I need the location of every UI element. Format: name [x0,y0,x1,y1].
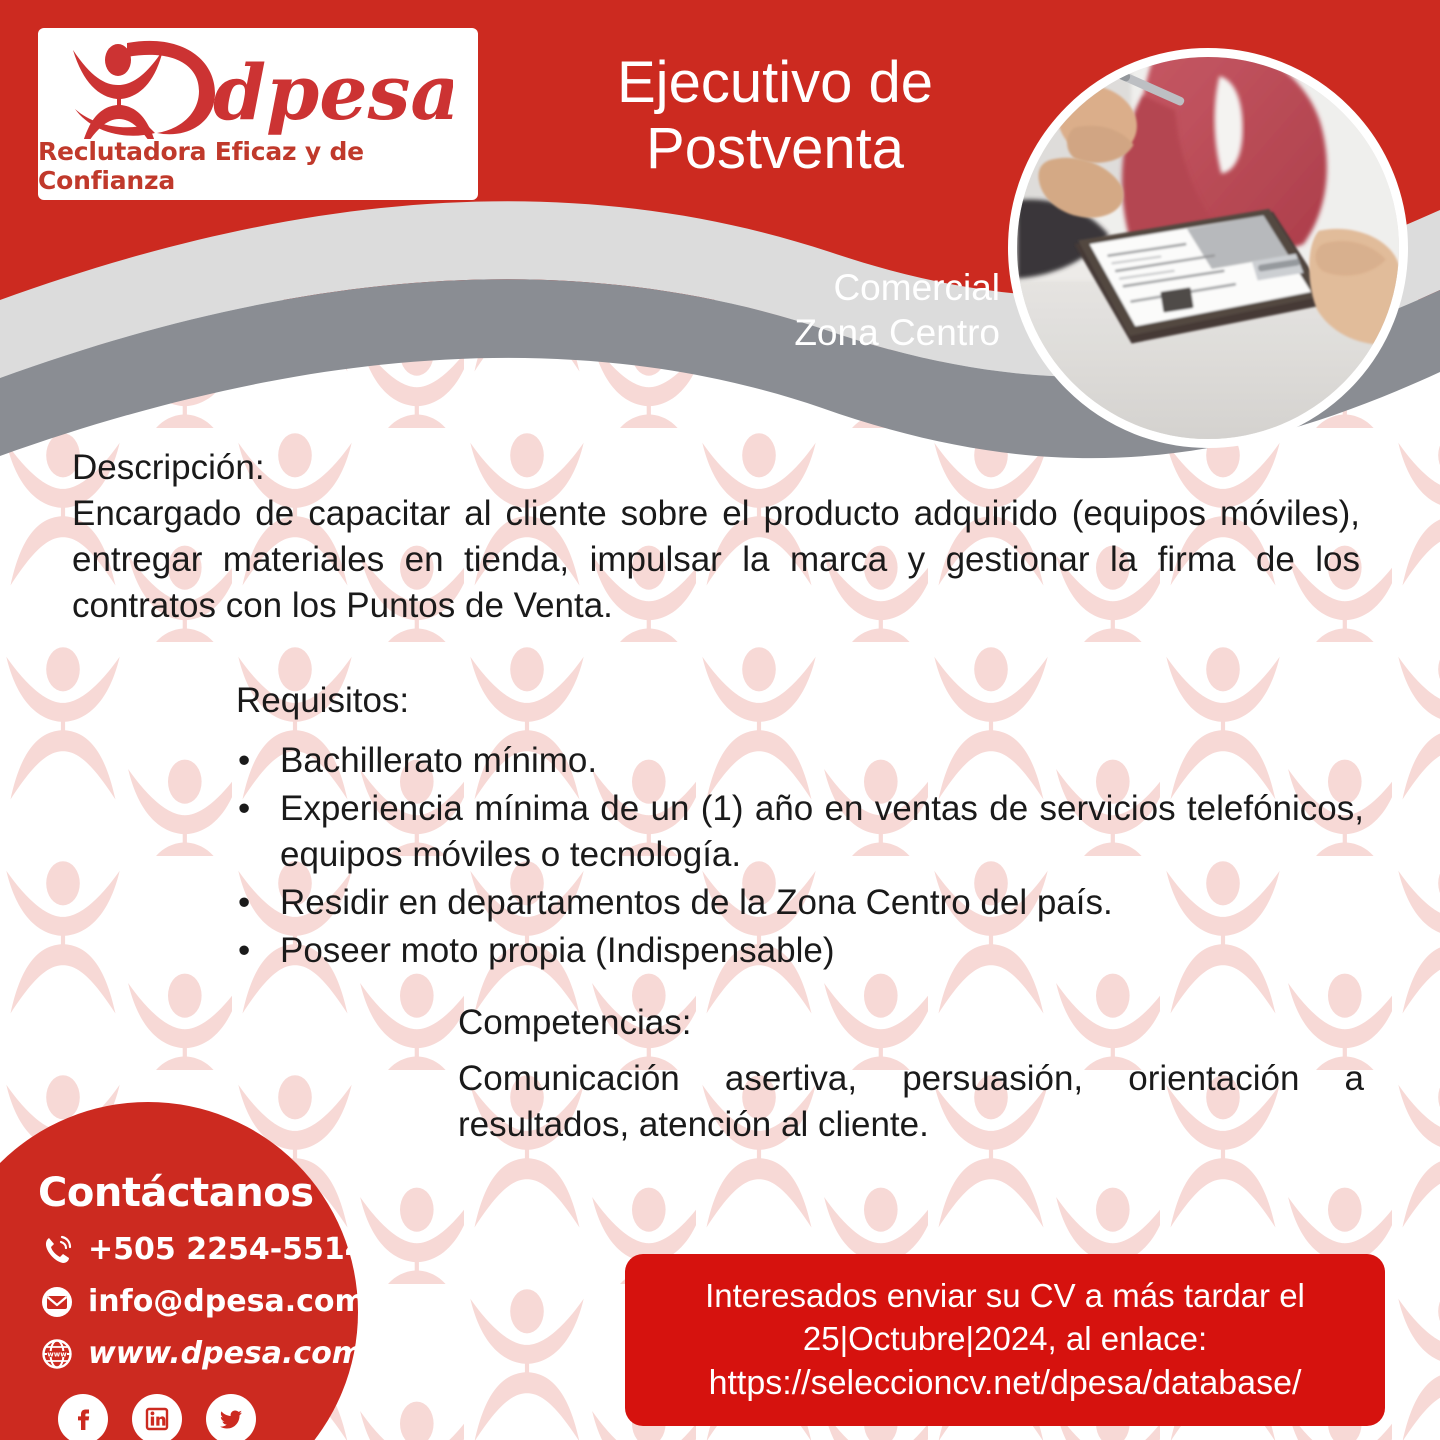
job-subtitle: Comercial Zona Centro [600,265,1000,355]
logo-tagline: Reclutadora Eficaz y de Confianza [38,137,478,195]
list-item: • Poseer moto propia (Indispensable) [236,928,1364,974]
contact-heading: Contáctanos [38,1170,314,1216]
list-item-text: Poseer moto propia (Indispensable) [280,931,834,970]
list-item-text: Residir en departamentos de la Zona Cent… [280,883,1113,922]
competencies-text: Comunicación asertiva, persuasión, orien… [458,1056,1364,1150]
twitter-icon[interactable] [206,1394,256,1440]
contact-email-text: info@dpesa.com [88,1284,366,1319]
description-heading: Descripción: [72,446,1360,491]
contact-website-text: www.dpesa.com [88,1336,363,1371]
cta-line1: Interesados enviar su CV a más tardar el [705,1274,1305,1318]
competencies-section: Competencias: Comunicación asertiva, per… [458,1000,1364,1149]
requirements-heading: Requisitos: [236,678,1364,724]
page-title: Ejecutivo de Postventa [540,50,1010,181]
svg-text:www: www [47,1350,67,1358]
logo-wordmark: dpesa [38,33,478,141]
contact-phone-text: +505 2254-5514 [88,1232,366,1267]
description-text: Encargado de capacitar al cliente sobre … [72,491,1360,630]
bullet-glyph: • [238,738,250,784]
interview-photo-image [1017,57,1399,439]
phone-icon [40,1233,74,1267]
requirements-list: • Bachillerato mínimo. • Experiencia mín… [236,738,1364,975]
bullet-glyph: • [238,880,250,926]
interview-photo [1008,48,1408,448]
globe-icon: www [40,1337,74,1371]
contact-email[interactable]: info@dpesa.com [40,1284,366,1319]
list-item-text: Experiencia mínima de un (1) año en vent… [280,789,1364,874]
job-posting-poster: dpesa Reclutadora Eficaz y de Confianza … [0,0,1440,1440]
subtitle-line2: Zona Centro [600,310,1000,355]
svg-text:dpesa: dpesa [213,48,453,137]
bullet-glyph: • [238,786,250,832]
cta-link[interactable]: https://seleccioncv.net/dpesa/database/ [709,1361,1302,1406]
contact-block: Contáctanos +505 2254-5514 info@dpesa.co… [62,1102,402,1440]
bullet-glyph: • [238,928,250,974]
competencies-heading: Competencias: [458,1000,1364,1046]
subtitle-line1: Comercial [600,265,1000,310]
envelope-icon [40,1285,74,1319]
list-item: • Bachillerato mínimo. [236,738,1364,784]
requirements-section: Requisitos: • Bachillerato mínimo. • Exp… [236,678,1364,976]
list-item-text: Bachillerato mínimo. [280,741,597,780]
description-section: Descripción: Encargado de capacitar al c… [72,446,1360,629]
cta-line2: 25|Octubre|2024, al enlace: [803,1317,1207,1361]
job-title-line2: Postventa [540,116,1010,182]
list-item: • Residir en departamentos de la Zona Ce… [236,880,1364,926]
contact-website[interactable]: www www.dpesa.com [40,1336,363,1371]
social-links [58,1394,256,1440]
linkedin-icon[interactable] [132,1394,182,1440]
job-title-line1: Ejecutivo de [540,50,1010,116]
list-item: • Experiencia mínima de un (1) año en ve… [236,786,1364,878]
cta-banner[interactable]: Interesados enviar su CV a más tardar el… [625,1254,1385,1426]
contact-phone[interactable]: +505 2254-5514 [40,1232,366,1267]
facebook-icon[interactable] [58,1394,108,1440]
dpesa-logo-icon: dpesa [63,35,453,139]
company-logo: dpesa Reclutadora Eficaz y de Confianza [38,28,478,200]
